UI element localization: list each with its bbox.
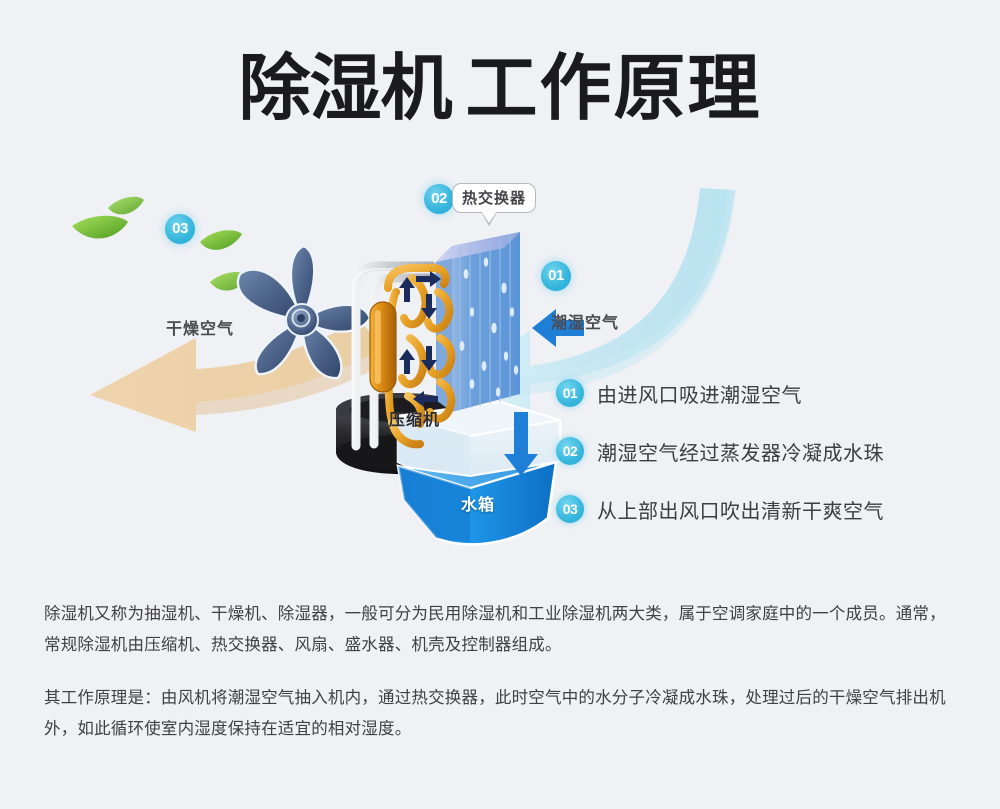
badge-outlet: 03	[165, 214, 195, 244]
legend-badge-2: 02	[556, 437, 584, 465]
title-part-2: 工作原理	[466, 46, 762, 130]
legend-item-1: 01 由进风口吸进潮湿空气	[556, 370, 976, 416]
body-copy: 除湿机又称为抽湿机、干燥机、除湿器，一般可分为民用除湿机和工业除湿机两大类，属于…	[44, 598, 962, 744]
badge-intake: 01	[541, 261, 571, 291]
water-tank-label: 水箱	[461, 491, 495, 515]
heat-exchanger-callout: 热交换器	[452, 183, 536, 213]
paragraph-1: 除湿机又称为抽湿机、干燥机、除湿器，一般可分为民用除湿机和工业除湿机两大类，属于…	[44, 598, 962, 660]
title-part-1: 除湿机	[238, 46, 451, 130]
legend-item-3: 03 从上部出风口吹出清新干爽空气	[556, 486, 976, 532]
badge-exchanger: 02	[424, 184, 454, 214]
page-title: 除湿机工作原理	[0, 52, 1000, 124]
compressor-label: 压缩机	[389, 406, 440, 430]
leaf-icon-group	[72, 197, 250, 291]
legend-text-2: 潮湿空气经过蒸发器冷凝成水珠	[597, 437, 884, 466]
legend-text-3: 从上部出风口吹出清新干爽空气	[597, 495, 884, 524]
humid-air-label: 潮湿空气	[551, 309, 619, 333]
legend-item-2: 02 潮湿空气经过蒸发器冷凝成水珠	[556, 428, 976, 474]
legend-text-1: 由进风口吸进潮湿空气	[597, 379, 802, 408]
infographic-page: 除湿机工作原理	[0, 0, 1000, 809]
legend-badge-1: 01	[556, 379, 584, 407]
legend-list: 01 由进风口吸进潮湿空气 02 潮湿空气经过蒸发器冷凝成水珠 03 从上部出风…	[556, 370, 976, 544]
refrigerant-cylinder	[370, 302, 396, 392]
legend-badge-3: 03	[556, 495, 584, 523]
paragraph-2: 其工作原理是：由风机将潮湿空气抽入机内，通过热交换器，此时空气中的水分子冷凝成水…	[44, 682, 962, 744]
dry-air-label: 干燥空气	[166, 315, 234, 339]
